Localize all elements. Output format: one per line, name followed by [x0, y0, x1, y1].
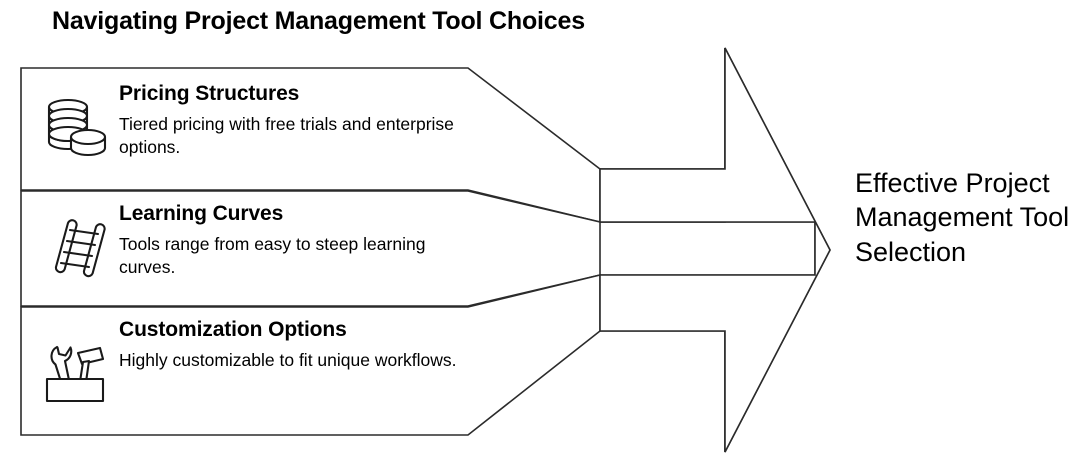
- coin-stack-icon: [38, 90, 114, 166]
- arrow-overlay: [600, 48, 830, 452]
- row-text-2: Learning Curves Tools range from easy to…: [119, 202, 479, 279]
- feature-row-learning-curves: Learning Curves Tools range from easy to…: [21, 191, 491, 306]
- feature-row-customization-options: Customization Options Highly customizabl…: [21, 307, 491, 435]
- row-description-1: Tiered pricing with free trials and ente…: [119, 113, 464, 159]
- diagram-canvas: Navigating Project Management Tool Choic…: [0, 0, 1090, 457]
- row-heading-2: Learning Curves: [119, 202, 479, 226]
- row-text-3: Customization Options Highly customizabl…: [119, 318, 479, 372]
- feature-row-pricing-structures: Pricing Structures Tiered pricing with f…: [21, 68, 491, 190]
- row-text-1: Pricing Structures Tiered pricing with f…: [119, 82, 479, 159]
- row-description-3: Highly customizable to fit unique workfl…: [119, 349, 464, 372]
- toolbox-icon: [38, 335, 114, 411]
- ladder-icon: [38, 209, 114, 285]
- row-description-2: Tools range from easy to steep learning …: [119, 233, 464, 279]
- row-heading-3: Customization Options: [119, 318, 479, 342]
- row-heading-1: Pricing Structures: [119, 82, 479, 106]
- convergence-arrow-shape: [600, 48, 725, 452]
- arrow-head-and-shaft: [600, 48, 830, 452]
- outcome-label: Effective Project Management Tool Select…: [855, 166, 1087, 269]
